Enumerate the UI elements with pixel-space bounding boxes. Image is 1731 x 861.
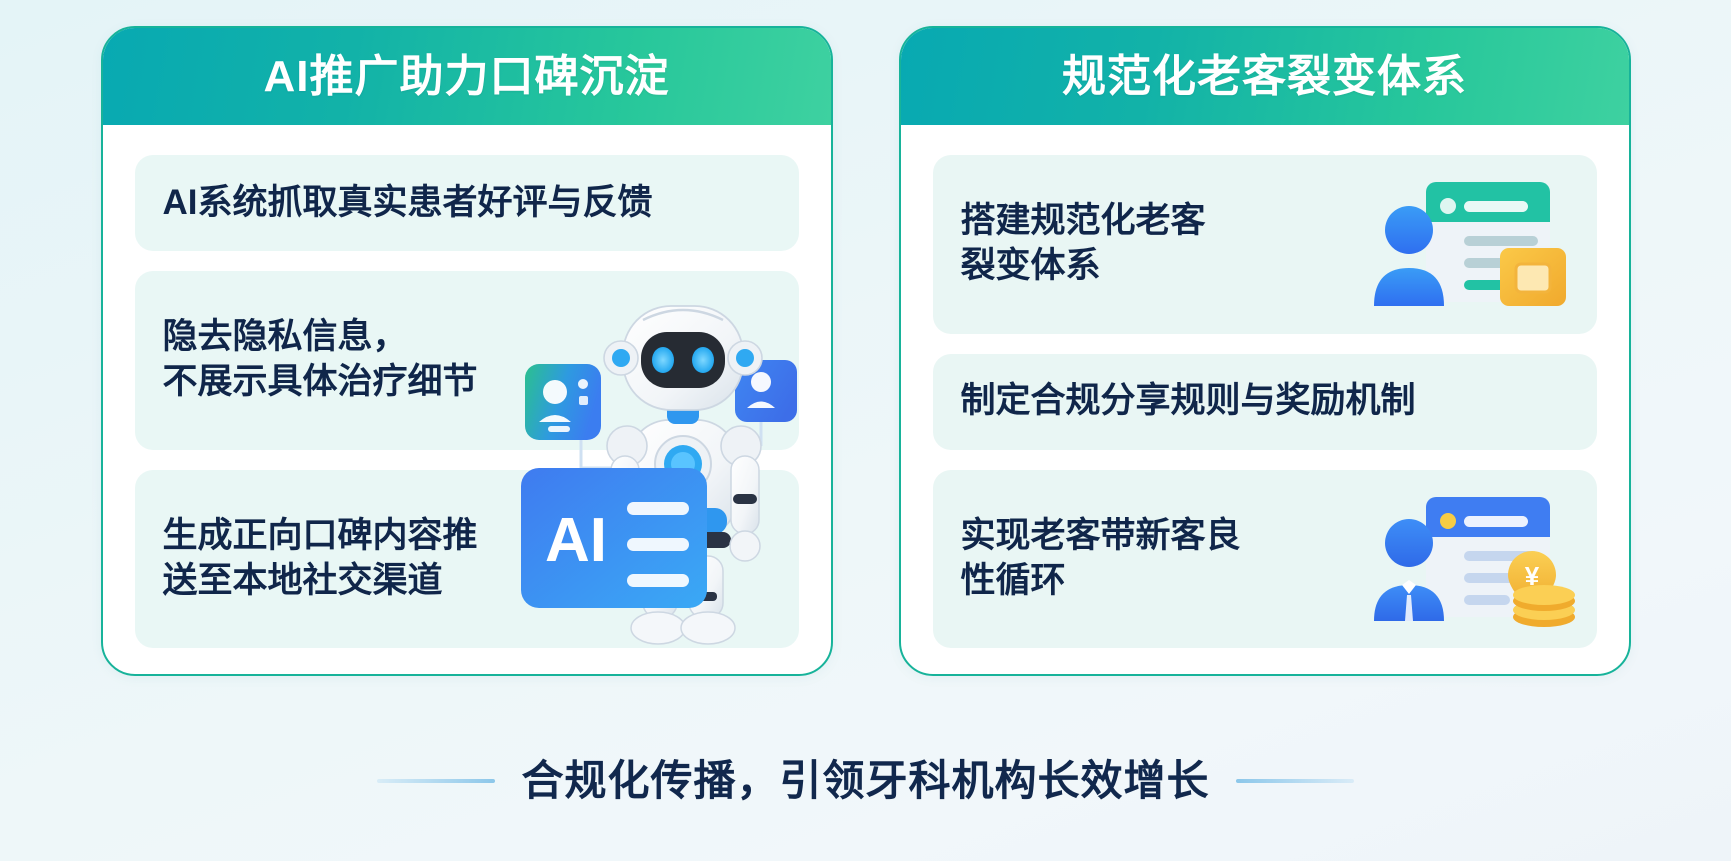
- profile-document-illustration: [1364, 174, 1579, 314]
- list-item[interactable]: 实现老客带新客良 性循环: [933, 470, 1597, 649]
- list-item[interactable]: 生成正向口碑内容推 送至本地社交渠道: [135, 470, 799, 649]
- svg-text:¥: ¥: [1524, 561, 1539, 591]
- footer-banner: 合规化传播，引领牙科机构长效增长: [0, 700, 1731, 861]
- panel-body-referral-system: 搭建规范化老客 裂变体系: [901, 125, 1629, 674]
- panel-body-ai-promotion: AI系统抓取真实患者好评与反馈 隐去隐私信息， 不展示具体治疗细节 生成正向口碑…: [103, 125, 831, 674]
- list-item[interactable]: 隐去隐私信息， 不展示具体治疗细节: [135, 271, 799, 450]
- panel-ai-promotion: AI推广助力口碑沉淀 AI系统抓取真实患者好评与反馈 隐去隐私信息， 不展示具体…: [101, 26, 833, 676]
- list-item-label: 制定合规分享规则与奖励机制: [961, 379, 1416, 424]
- list-item[interactable]: 制定合规分享规则与奖励机制: [933, 354, 1597, 450]
- footer-rule-right: [1236, 779, 1354, 783]
- list-item-label: 搭建规范化老客 裂变体系: [961, 199, 1206, 289]
- panels-row: AI推广助力口碑沉淀 AI系统抓取真实患者好评与反馈 隐去隐私信息， 不展示具体…: [0, 26, 1731, 676]
- footer-rule-left: [377, 779, 495, 783]
- gift-box-icon: [1500, 248, 1566, 306]
- yen-reward-icon: ¥: [1508, 551, 1575, 627]
- list-item-label: AI系统抓取真实患者好评与反馈: [163, 181, 653, 226]
- footer-text: 合规化传播，引领牙科机构长效增长: [521, 760, 1209, 802]
- panel-title: 规范化老客裂变体系: [1062, 55, 1467, 99]
- list-item-label: 生成正向口碑内容推 送至本地社交渠道: [163, 514, 478, 604]
- list-item[interactable]: 搭建规范化老客 裂变体系: [933, 155, 1597, 334]
- slide-canvas: AI推广助力口碑沉淀 AI系统抓取真实患者好评与反馈 隐去隐私信息， 不展示具体…: [0, 0, 1731, 861]
- panel-title: AI推广助力口碑沉淀: [264, 55, 670, 99]
- panel-header-referral-system: 规范化老客裂变体系: [901, 28, 1629, 125]
- profile-reward-illustration: ¥: [1364, 489, 1579, 629]
- list-item[interactable]: AI系统抓取真实患者好评与反馈: [135, 155, 799, 251]
- panel-header-ai-promotion: AI推广助力口碑沉淀: [103, 28, 831, 125]
- list-item-label: 实现老客带新客良 性循环: [961, 514, 1241, 604]
- panel-referral-system: 规范化老客裂变体系 搭建规范化老客 裂变体系: [899, 26, 1631, 676]
- list-item-label: 隐去隐私信息， 不展示具体治疗细节: [163, 315, 478, 405]
